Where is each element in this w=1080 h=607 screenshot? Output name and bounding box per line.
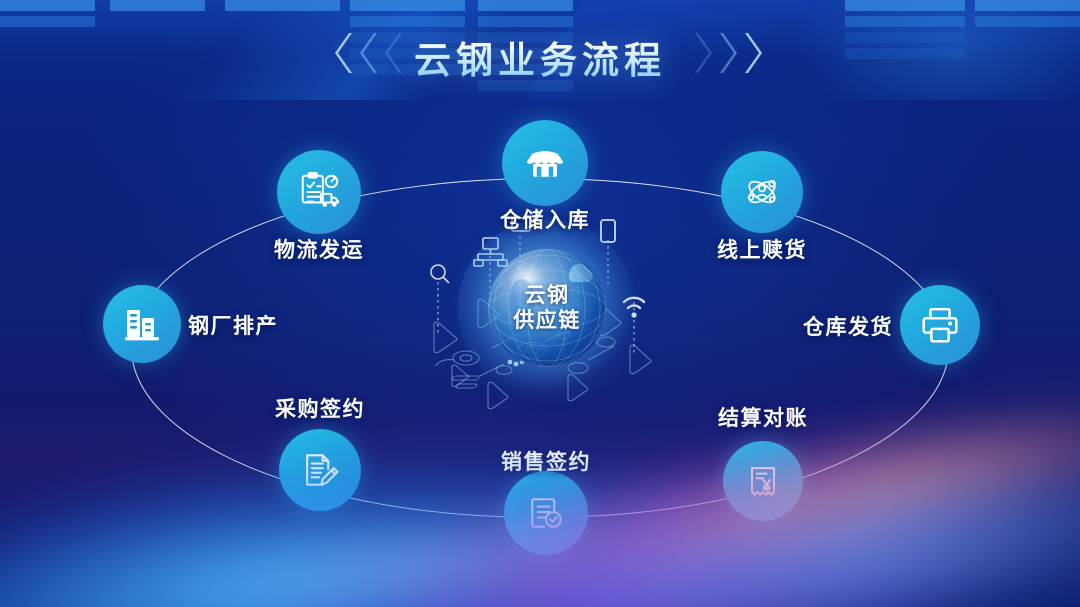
header-bar [478, 0, 573, 11]
header-bar [0, 0, 95, 11]
node-steel-mill-scheduling-label: 钢厂排产 [188, 310, 278, 340]
clipboard-truck-icon[interactable] [277, 150, 361, 234]
header-bar [478, 16, 573, 27]
header-bar [225, 0, 340, 11]
node-logistics-shipping-label: 物流发运 [274, 234, 364, 264]
header-bar [975, 16, 1080, 27]
sphere-label: 云钢 供应链 [488, 249, 606, 367]
node-warehouse-outbound-label: 仓库发货 [803, 311, 893, 341]
header-bar [110, 0, 205, 11]
factory-icon[interactable] [103, 285, 181, 363]
page-title: 云钢业务流程 [0, 30, 1080, 84]
printer-icon[interactable] [900, 285, 980, 365]
header-bar [350, 0, 465, 11]
node-online-redemption-label: 线上赎货 [717, 234, 807, 264]
slide-canvas: 云钢业务流程 [0, 0, 1080, 607]
header-bar [350, 16, 465, 27]
header-bar [845, 16, 965, 27]
orbit-user-icon[interactable] [721, 151, 803, 233]
sphere-label-line1: 云钢 [525, 283, 570, 308]
node-warehouse-inbound-label: 仓储入库 [500, 204, 590, 234]
warehouse-store-icon[interactable] [502, 120, 588, 206]
header-bar [975, 0, 1080, 11]
center-sphere: 云钢 供应链 [488, 249, 606, 367]
header-bar [0, 16, 95, 27]
header-bar [845, 0, 965, 11]
sphere-label-line2: 供应链 [513, 308, 581, 333]
bottom-aurora-gradient [0, 357, 1080, 607]
